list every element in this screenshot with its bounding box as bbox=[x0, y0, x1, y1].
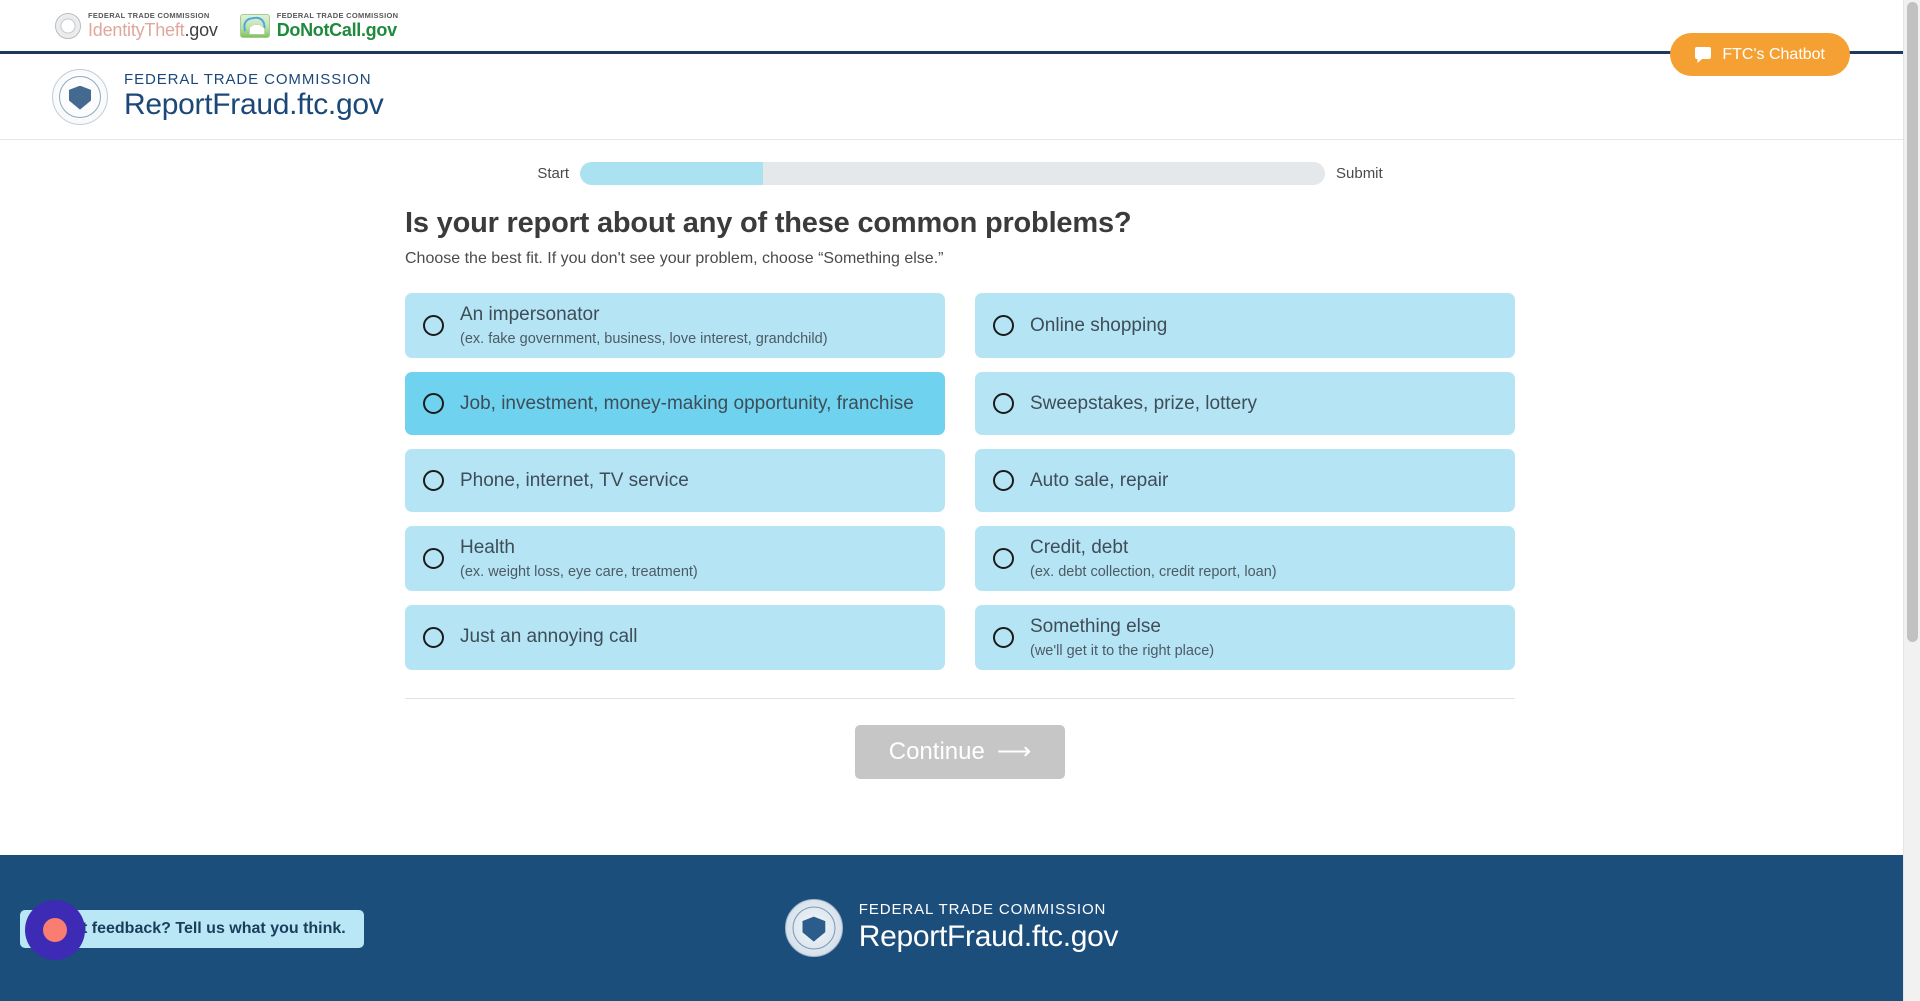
option-job-investment[interactable]: Job, investment, money-making opportunit… bbox=[405, 372, 945, 435]
chat-bubble-icon bbox=[1695, 47, 1713, 62]
option-credit-debt[interactable]: Credit, debt (ex. debt collection, credi… bbox=[975, 526, 1515, 591]
option-text: An impersonator (ex. fake government, bu… bbox=[460, 303, 828, 348]
option-sweepstakes-prize-lottery[interactable]: Sweepstakes, prize, lottery bbox=[975, 372, 1515, 435]
footer-brand-text: FEDERAL TRADE COMMISSION ReportFraud.ftc… bbox=[859, 901, 1118, 954]
option-something-else[interactable]: Something else (we'll get it to the righ… bbox=[975, 605, 1515, 670]
option-label: Job, investment, money-making opportunit… bbox=[460, 392, 914, 416]
option-label: Online shopping bbox=[1030, 314, 1167, 338]
radio-icon[interactable] bbox=[423, 393, 444, 414]
option-label: Auto sale, repair bbox=[1030, 469, 1168, 493]
chatbot-button-label: FTC's Chatbot bbox=[1722, 46, 1825, 64]
option-text: Phone, internet, TV service bbox=[460, 469, 689, 493]
top-utility-bar: FEDERAL TRADE COMMISSION IdentityTheft.g… bbox=[0, 0, 1920, 54]
option-text: Online shopping bbox=[1030, 314, 1167, 338]
option-hint: (ex. fake government, business, love int… bbox=[460, 330, 828, 348]
option-text: Health (ex. weight loss, eye care, treat… bbox=[460, 536, 698, 581]
option-label: Credit, debt bbox=[1030, 536, 1277, 560]
donotcall-eyebrow: FEDERAL TRADE COMMISSION bbox=[277, 12, 399, 20]
scrollbar-thumb[interactable] bbox=[1907, 2, 1918, 642]
page-root: FEDERAL TRADE COMMISSION IdentityTheft.g… bbox=[0, 0, 1920, 1001]
option-health[interactable]: Health (ex. weight loss, eye care, treat… bbox=[405, 526, 945, 591]
option-text: Auto sale, repair bbox=[1030, 469, 1168, 493]
footer-brand: FEDERAL TRADE COMMISSION ReportFraud.ftc… bbox=[785, 899, 1118, 957]
brand-text: FEDERAL TRADE COMMISSION ReportFraud.ftc… bbox=[124, 71, 383, 123]
radio-icon[interactable] bbox=[423, 548, 444, 569]
reportfraud-home-link[interactable]: FEDERAL TRADE COMMISSION ReportFraud.ftc… bbox=[52, 69, 383, 125]
radio-icon[interactable] bbox=[993, 393, 1014, 414]
radio-icon[interactable] bbox=[993, 315, 1014, 336]
progress-start-label: Start bbox=[537, 165, 569, 182]
page-scrollbar[interactable] bbox=[1903, 0, 1920, 1001]
phone-house-icon bbox=[240, 14, 270, 38]
progress-indicator: Start Submit bbox=[0, 140, 1920, 197]
radio-icon[interactable] bbox=[993, 627, 1014, 648]
option-text: Something else (we'll get it to the righ… bbox=[1030, 615, 1214, 660]
option-text: Just an annoying call bbox=[460, 625, 637, 649]
radio-icon[interactable] bbox=[423, 627, 444, 648]
radio-icon[interactable] bbox=[993, 470, 1014, 491]
ftc-seal-icon bbox=[785, 899, 843, 957]
option-label: Health bbox=[460, 536, 698, 560]
donotcall-name: DoNotCall.gov bbox=[277, 21, 399, 39]
progress-track bbox=[580, 162, 1325, 185]
progress-submit-label: Submit bbox=[1336, 165, 1383, 182]
radio-icon[interactable] bbox=[423, 315, 444, 336]
option-hint: (we'll get it to the right place) bbox=[1030, 642, 1214, 660]
arrow-right-icon: ⟶ bbox=[997, 740, 1031, 764]
feedback-pill-label: t feedback? Tell us what you think. bbox=[82, 920, 346, 938]
page-title: ReportFraud.ftc.gov bbox=[124, 88, 383, 123]
radio-icon[interactable] bbox=[993, 548, 1014, 569]
option-hint: (ex. weight loss, eye care, treatment) bbox=[460, 563, 698, 581]
option-label: An impersonator bbox=[460, 303, 828, 327]
option-phone-internet-tv[interactable]: Phone, internet, TV service bbox=[405, 449, 945, 512]
continue-button[interactable]: Continue ⟶ bbox=[855, 725, 1065, 779]
identitytheft-logo-link[interactable]: FEDERAL TRADE COMMISSION IdentityTheft.g… bbox=[55, 12, 218, 40]
option-text: Job, investment, money-making opportunit… bbox=[460, 392, 914, 416]
identitytheft-name-part1: IdentityTheft bbox=[88, 20, 184, 40]
identitytheft-eyebrow: FEDERAL TRADE COMMISSION bbox=[88, 12, 218, 20]
option-just-an-annoying-call[interactable]: Just an annoying call bbox=[405, 605, 945, 670]
option-label: Just an annoying call bbox=[460, 625, 637, 649]
question-heading: Is your report about any of these common… bbox=[205, 207, 1715, 240]
option-label: Phone, internet, TV service bbox=[460, 469, 689, 493]
option-hint: (ex. debt collection, credit report, loa… bbox=[1030, 563, 1277, 581]
footer-title: ReportFraud.ftc.gov bbox=[859, 919, 1118, 954]
feedback-dot-icon[interactable] bbox=[25, 900, 85, 960]
brand-eyebrow: FEDERAL TRADE COMMISSION bbox=[124, 71, 383, 88]
option-text: Credit, debt (ex. debt collection, credi… bbox=[1030, 536, 1277, 581]
option-label: Something else bbox=[1030, 615, 1214, 639]
donotcall-logo-link[interactable]: FEDERAL TRADE COMMISSION DoNotCall.gov bbox=[240, 12, 399, 40]
radio-icon[interactable] bbox=[423, 470, 444, 491]
feedback-dot-inner bbox=[43, 918, 67, 942]
main-content: Is your report about any of these common… bbox=[205, 197, 1715, 813]
continue-button-label: Continue bbox=[889, 738, 985, 766]
option-auto-sale-repair[interactable]: Auto sale, repair bbox=[975, 449, 1515, 512]
donotcall-logo-text: FEDERAL TRADE COMMISSION DoNotCall.gov bbox=[277, 12, 399, 40]
option-label: Sweepstakes, prize, lottery bbox=[1030, 392, 1257, 416]
identitytheft-name-part2: .gov bbox=[184, 20, 217, 40]
question-instruction: Choose the best fit. If you don't see yo… bbox=[205, 250, 1715, 268]
option-online-shopping[interactable]: Online shopping bbox=[975, 293, 1515, 358]
option-an-impersonator[interactable]: An impersonator (ex. fake government, bu… bbox=[405, 293, 945, 358]
continue-row: Continue ⟶ bbox=[205, 699, 1715, 813]
identitytheft-name: IdentityTheft.gov bbox=[88, 21, 218, 39]
ftc-seal-icon bbox=[55, 13, 81, 39]
progress-fill bbox=[580, 162, 763, 185]
site-brand-header: FEDERAL TRADE COMMISSION ReportFraud.ftc… bbox=[0, 54, 1920, 140]
option-text: Sweepstakes, prize, lottery bbox=[1030, 392, 1257, 416]
chatbot-button[interactable]: FTC's Chatbot bbox=[1670, 33, 1850, 76]
identitytheft-logo-text: FEDERAL TRADE COMMISSION IdentityTheft.g… bbox=[88, 12, 218, 40]
ftc-seal-icon bbox=[52, 69, 108, 125]
options-grid: An impersonator (ex. fake government, bu… bbox=[205, 293, 1715, 670]
footer-eyebrow: FEDERAL TRADE COMMISSION bbox=[859, 901, 1118, 919]
